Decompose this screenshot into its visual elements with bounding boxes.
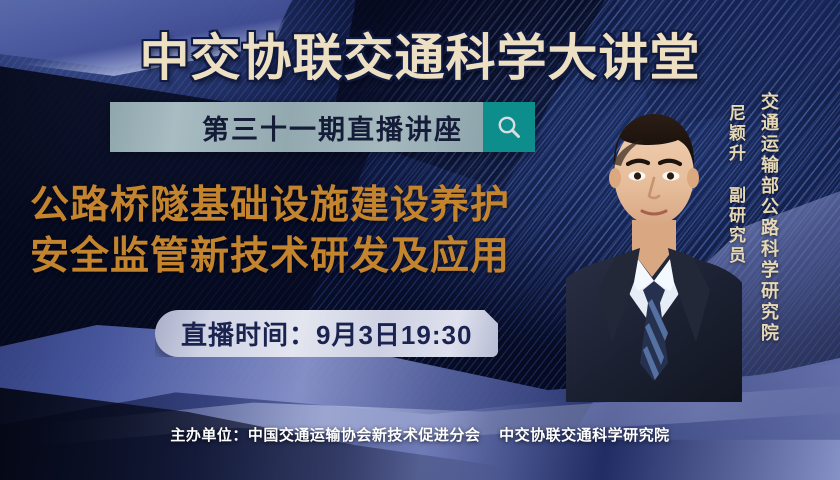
speaker-organization-vertical: 交通运输部公路科学研究院 <box>756 92 782 344</box>
broadcast-time-label: 直播时间：9月3日19:30 <box>181 315 472 352</box>
topic-line-2: 安全监管新技术研发及应用 <box>30 231 590 282</box>
lecture-topic: 公路桥隧基础设施建设养护 安全监管新技术研发及应用 <box>30 180 590 283</box>
search-button[interactable] <box>483 102 535 152</box>
episode-label: 第三十一期直播讲座 <box>202 108 463 147</box>
topic-line-1: 公路桥隧基础设施建设养护 <box>30 180 590 231</box>
speaker-portrait <box>566 72 742 402</box>
episode-label-box: 第三十一期直播讲座 <box>110 102 483 152</box>
footer-organizers: 主办单位：中国交通运输协会新技术促进分会 中交协联交通科学研究院 <box>0 424 840 445</box>
search-icon <box>495 113 523 141</box>
live-lecture-poster: 中交协联交通科学大讲堂 第三十一期直播讲座 公路桥隧基础设施建设养护 安全监管新… <box>0 0 840 480</box>
speaker-photo-illustration <box>566 72 742 402</box>
speaker-name-vertical: 尼颖升 副研究员 <box>723 104 748 266</box>
episode-search-bar[interactable]: 第三十一期直播讲座 <box>110 102 535 152</box>
broadcast-time-badge: 直播时间：9月3日19:30 <box>155 310 498 357</box>
